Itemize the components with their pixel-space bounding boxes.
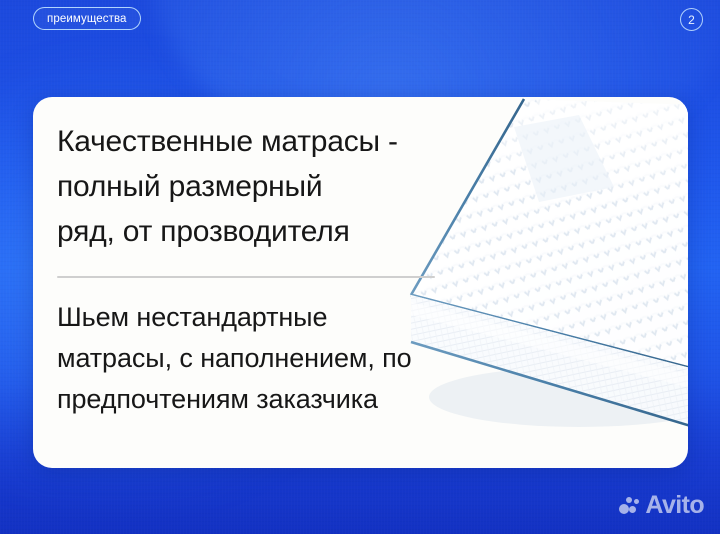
card-divider: [57, 276, 435, 278]
card-text-block: Качественные матрасы - полный размерный …: [57, 119, 487, 420]
step-counter-value: 2: [688, 14, 695, 26]
benefits-badge-label: преимущества: [47, 13, 127, 25]
card-headline: Качественные матрасы - полный размерный …: [57, 119, 487, 254]
avito-dots-icon: [619, 496, 640, 515]
benefits-badge: преимущества: [33, 7, 141, 30]
avito-wordmark: Avito: [645, 493, 704, 518]
avito-watermark: Avito: [619, 493, 704, 518]
promo-slide: преимущества 2: [0, 0, 720, 534]
card-subline: Шьем нестандартные матрасы, с наполнение…: [57, 297, 487, 420]
step-counter-badge: 2: [680, 8, 703, 31]
content-card: Качественные матрасы - полный размерный …: [33, 97, 688, 468]
